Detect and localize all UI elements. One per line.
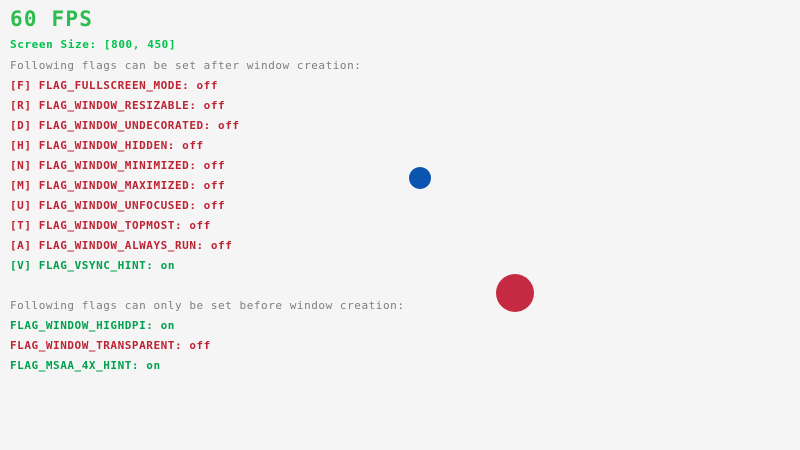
flag-row-flag_msaa_4x_hint[interactable]: FLAG_MSAA_4X_HINT: on: [10, 359, 161, 372]
flag-hotkey: [A]: [10, 239, 39, 252]
flag-hotkey: [M]: [10, 179, 39, 192]
raylib-window: 60 FPS Screen Size: [800, 450] Following…: [0, 0, 800, 450]
flag-row-flag_window_hidden[interactable]: [H] FLAG_WINDOW_HIDDEN: off: [10, 139, 204, 152]
flag-hotkey: [U]: [10, 199, 39, 212]
flag-value: off: [218, 119, 240, 132]
flag-name: FLAG_WINDOW_TOPMOST:: [39, 219, 190, 232]
flag-name: FLAG_WINDOW_TRANSPARENT:: [10, 339, 189, 352]
flag-name: FLAG_WINDOW_RESIZABLE:: [39, 99, 204, 112]
flag-hotkey: [H]: [10, 139, 39, 152]
flag-name: FLAG_MSAA_4X_HINT:: [10, 359, 146, 372]
flag-row-flag_window_topmost[interactable]: [T] FLAG_WINDOW_TOPMOST: off: [10, 219, 211, 232]
flag-name: FLAG_WINDOW_UNFOCUSED:: [39, 199, 204, 212]
flag-hotkey: [V]: [10, 259, 39, 272]
flag-hotkey: [T]: [10, 219, 39, 232]
flag-hotkey: [F]: [10, 79, 39, 92]
flag-value: off: [204, 159, 226, 172]
flag-value: off: [211, 239, 233, 252]
flag-row-flag_window_always_run[interactable]: [A] FLAG_WINDOW_ALWAYS_RUN: off: [10, 239, 232, 252]
flag-value: on: [146, 359, 160, 372]
flag-name: FLAG_WINDOW_MINIMIZED:: [39, 159, 204, 172]
flag-name: FLAG_VSYNC_HINT:: [39, 259, 161, 272]
flag-row-flag_fullscreen_mode[interactable]: [F] FLAG_FULLSCREEN_MODE: off: [10, 79, 218, 92]
section-header-after-creation: Following flags can be set after window …: [10, 59, 361, 72]
flag-value: off: [204, 199, 226, 212]
flag-value: off: [204, 179, 226, 192]
flag-value: on: [161, 259, 175, 272]
flag-name: FLAG_FULLSCREEN_MODE:: [39, 79, 197, 92]
flag-value: off: [189, 339, 211, 352]
flag-row-flag_window_transparent[interactable]: FLAG_WINDOW_TRANSPARENT: off: [10, 339, 211, 352]
flag-value: off: [204, 99, 226, 112]
flag-row-flag_window_minimized[interactable]: [N] FLAG_WINDOW_MINIMIZED: off: [10, 159, 225, 172]
flag-row-flag_window_resizable[interactable]: [R] FLAG_WINDOW_RESIZABLE: off: [10, 99, 225, 112]
flag-name: FLAG_WINDOW_ALWAYS_RUN:: [39, 239, 211, 252]
flag-name: FLAG_WINDOW_HIDDEN:: [39, 139, 182, 152]
flag-value: off: [182, 139, 204, 152]
flag-hotkey: [N]: [10, 159, 39, 172]
flag-row-flag_window_undecorated[interactable]: [D] FLAG_WINDOW_UNDECORATED: off: [10, 119, 240, 132]
flag-row-flag_vsync_hint[interactable]: [V] FLAG_VSYNC_HINT: on: [10, 259, 175, 272]
fps-counter: 60 FPS: [10, 7, 93, 31]
flag-value: off: [197, 79, 219, 92]
flag-name: FLAG_WINDOW_HIGHDPI:: [10, 319, 161, 332]
flag-value: on: [161, 319, 175, 332]
flag-name: FLAG_WINDOW_MAXIMIZED:: [39, 179, 204, 192]
flag-name: FLAG_WINDOW_UNDECORATED:: [39, 119, 218, 132]
flag-row-flag_window_maximized[interactable]: [M] FLAG_WINDOW_MAXIMIZED: off: [10, 179, 225, 192]
flag-hotkey: [R]: [10, 99, 39, 112]
flag-value: off: [189, 219, 211, 232]
screen-size-label: Screen Size: [800, 450]: [10, 38, 176, 51]
hud-overlay: 60 FPS Screen Size: [800, 450] Following…: [0, 0, 800, 450]
flag-hotkey: [D]: [10, 119, 39, 132]
flag-row-flag_window_unfocused[interactable]: [U] FLAG_WINDOW_UNFOCUSED: off: [10, 199, 225, 212]
flag-row-flag_window_highdpi[interactable]: FLAG_WINDOW_HIGHDPI: on: [10, 319, 175, 332]
section-header-before-creation: Following flags can only be set before w…: [10, 299, 405, 312]
